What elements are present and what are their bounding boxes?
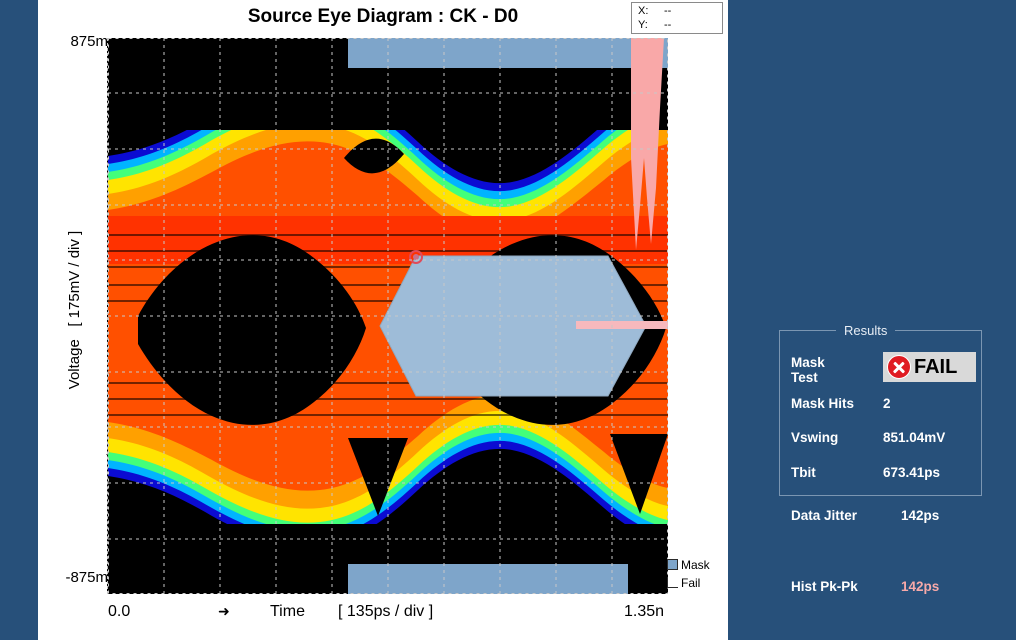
eye-diagram-canvas xyxy=(108,38,668,594)
results-value-mask-hits: 2 xyxy=(883,396,891,411)
results-value-data-jitter: 142ps xyxy=(901,508,939,523)
eye-diagram-plot[interactable] xyxy=(107,38,668,594)
readout-value-y: -- xyxy=(664,18,671,32)
y-axis-units: [ 175mV / div ] xyxy=(66,231,83,327)
readout-row-y: Y:-- xyxy=(638,18,722,32)
x-axis: 0.0 ➜ Time [ 135ps / div ] 1.35n xyxy=(38,600,728,630)
x-axis-units: [ 135ps / div ] xyxy=(338,603,433,621)
results-key-vswing: Vswing xyxy=(791,430,838,445)
results-panel-title: Results xyxy=(836,323,895,338)
results-key-mask-hits: Mask Hits xyxy=(791,396,854,411)
results-value-vswing: 851.04mV xyxy=(883,430,945,445)
results-row-hist-pk-pk: Hist Pk-Pk 142ps xyxy=(791,579,1016,601)
results-value-hist-pk-pk: 142ps xyxy=(901,579,939,594)
readout-row-x: X:-- xyxy=(638,4,722,18)
x-axis-label: Time xyxy=(270,603,305,621)
readout-key-x: X: xyxy=(638,4,664,18)
y-axis-top-tick: 875m xyxy=(46,33,108,53)
x-axis-arrow-icon: ➜ xyxy=(218,603,230,620)
mask-hit-marker-dot xyxy=(413,254,419,260)
results-key-mask-test: Mask Test xyxy=(791,355,825,385)
mask-test-status-badge: FAIL xyxy=(883,352,976,382)
results-row-tbit: Tbit 673.41ps xyxy=(779,465,982,491)
x-axis-min-tick: 0.0 xyxy=(108,603,130,621)
y-axis-bottom-tick: -875m xyxy=(38,569,108,589)
results-row-data-jitter: Data Jitter 142ps xyxy=(791,508,1016,530)
readout-value-x: -- xyxy=(664,4,671,18)
page-title: Source Eye Diagram : CK - D0 xyxy=(38,2,728,32)
legend-item-mask[interactable]: Mask xyxy=(667,556,727,574)
results-row-mask-test: Mask Test xyxy=(0,355,203,381)
legend-label-fail: Fail xyxy=(681,576,700,590)
x-axis-max-tick: 1.35n xyxy=(624,603,664,621)
results-row-vswing: Vswing 851.04mV xyxy=(779,430,982,456)
legend-label-mask: Mask xyxy=(681,558,710,572)
legend-swatch-fail xyxy=(667,577,678,588)
mask-test-status-text: FAIL xyxy=(914,356,957,379)
eye-trace-layer xyxy=(108,38,668,594)
error-circle-x-icon xyxy=(887,355,911,379)
results-value-tbit: 673.41ps xyxy=(883,465,940,480)
results-row-mask-hits: Mask Hits 2 xyxy=(779,396,982,422)
hist-measurement-bar xyxy=(576,321,668,329)
instrument-panel: Source Eye Diagram : CK - D0 X:-- Y:-- 8… xyxy=(38,0,728,640)
mask-upper-bar xyxy=(348,38,668,68)
results-key-hist-pk-pk: Hist Pk-Pk xyxy=(791,579,858,594)
readout-key-y: Y: xyxy=(638,18,664,32)
legend-item-fail[interactable]: Fail xyxy=(667,574,727,592)
mask-lower-bar xyxy=(348,564,628,594)
results-key-data-jitter: Data Jitter xyxy=(791,508,857,523)
legend-swatch-mask xyxy=(667,559,678,570)
cursor-readout-box[interactable]: X:-- Y:-- xyxy=(631,2,723,34)
plot-legend: Mask Fail xyxy=(667,556,727,596)
results-key-tbit: Tbit xyxy=(791,465,816,480)
